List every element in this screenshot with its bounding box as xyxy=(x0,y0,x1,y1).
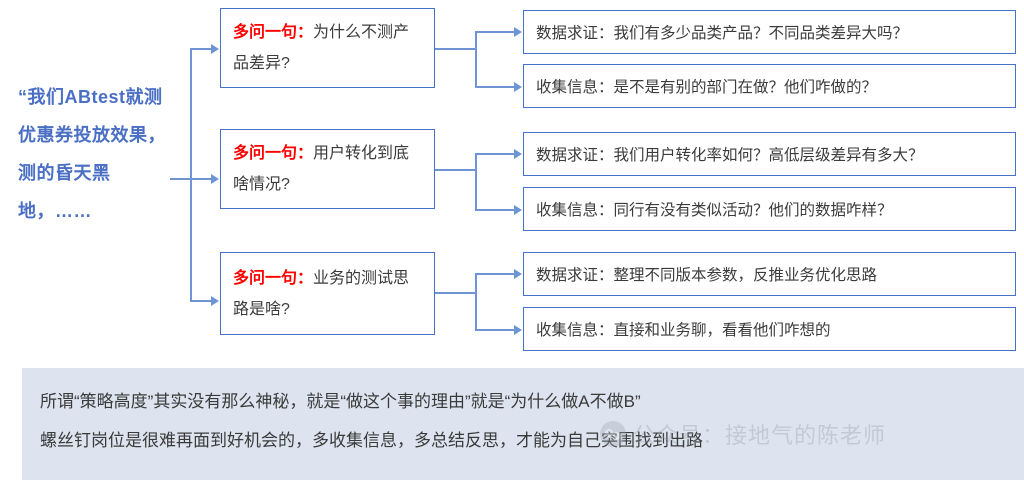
arrow-left-branch-3-icon xyxy=(211,296,219,306)
connector-branch-1-stem xyxy=(435,48,477,50)
connector-branch-3-out-1 xyxy=(475,273,515,275)
connector-branch-3-out-2 xyxy=(475,329,515,331)
connector-branch-1-out-1 xyxy=(475,31,515,33)
conclusion-line-1: 所谓“策略高度”其实没有那么神秘，就是“做这个事的理由”就是“为什么做A不做B” xyxy=(40,382,1006,421)
output-box-2-2[interactable]: 收集信息：同行有没有类似活动？他们的数据咋样？ xyxy=(523,187,1016,231)
branch-box-2[interactable]: 多问一句：用户转化到底啥情况? xyxy=(220,129,435,209)
conclusion-line-2: 螺丝钉岗位是很难再面到好机会的，多收集信息，多总结反思，才能为自己突围找到出路 xyxy=(40,421,1006,460)
arrow-branch-1-out-2-icon xyxy=(514,82,522,92)
arrow-left-branch-1-icon xyxy=(211,44,219,54)
output-box-3-1[interactable]: 数据求证：整理不同版本参数，反推业务优化思路 xyxy=(523,252,1016,296)
arrow-branch-1-out-1-icon xyxy=(514,27,522,37)
output-box-1-1-text: 数据求证：我们有多少品类产品？不同品类差异大吗？ xyxy=(536,21,908,43)
output-box-1-1[interactable]: 数据求证：我们有多少品类产品？不同品类差异大吗？ xyxy=(523,10,1016,54)
connector-branch-1-split xyxy=(475,31,477,86)
connector-branch-2-out-2 xyxy=(475,209,515,211)
connector-left-branch-2 xyxy=(190,178,212,180)
connector-left-branch-3 xyxy=(190,300,212,302)
connector-branch-2-stem xyxy=(435,169,477,171)
connector-branch-2-split xyxy=(475,153,477,209)
output-box-3-2[interactable]: 收集信息：直接和业务聊，看看他们咋想的 xyxy=(523,307,1016,351)
output-box-2-1[interactable]: 数据求证：我们用户转化率如何？高低层级差异有多大？ xyxy=(523,132,1016,176)
branch-box-3[interactable]: 多问一句：业务的测试思路是啥? xyxy=(220,252,435,335)
output-box-3-2-text: 收集信息：直接和业务聊，看看他们咋想的 xyxy=(536,318,831,340)
output-box-1-2[interactable]: 收集信息：是不是有别的部门在做？他们咋做的？ xyxy=(523,64,1016,108)
branch-box-2-prefix: 多问一句： xyxy=(233,145,313,162)
connector-branch-2-out-1 xyxy=(475,153,515,155)
branch-box-1-prefix: 多问一句： xyxy=(233,24,313,41)
connector-left-branch-1 xyxy=(190,48,212,50)
arrow-left-branch-2-icon xyxy=(211,174,219,184)
branch-box-1[interactable]: 多问一句：为什么不测产品差异? xyxy=(220,8,435,88)
connector-branch-1-out-2 xyxy=(475,86,515,88)
conclusion-panel: 所谓“策略高度”其实没有那么神秘，就是“做这个事的理由”就是“为什么做A不做B”… xyxy=(22,368,1024,480)
connector-left-trunk xyxy=(190,48,192,301)
connector-left-stem xyxy=(170,178,192,180)
output-box-1-2-text: 收集信息：是不是有别的部门在做？他们咋做的？ xyxy=(536,75,877,97)
source-quote-text: “我们ABtest就测优惠券投放效果，测的昏天黑地，…… xyxy=(18,78,178,230)
arrow-branch-2-out-1-icon xyxy=(514,149,522,159)
arrow-branch-3-out-2-icon xyxy=(514,325,522,335)
output-box-2-1-text: 数据求证：我们用户转化率如何？高低层级差异有多大？ xyxy=(536,143,924,165)
connector-branch-3-split xyxy=(475,273,477,329)
arrow-branch-3-out-1-icon xyxy=(514,269,522,279)
arrow-branch-2-out-2-icon xyxy=(514,205,522,215)
output-box-3-1-text: 数据求证：整理不同版本参数，反推业务优化思路 xyxy=(536,263,877,285)
output-box-2-2-text: 收集信息：同行有没有类似活动？他们的数据咋样？ xyxy=(536,198,893,220)
connector-branch-3-stem xyxy=(435,292,477,294)
branch-box-3-prefix: 多问一句： xyxy=(233,270,313,287)
